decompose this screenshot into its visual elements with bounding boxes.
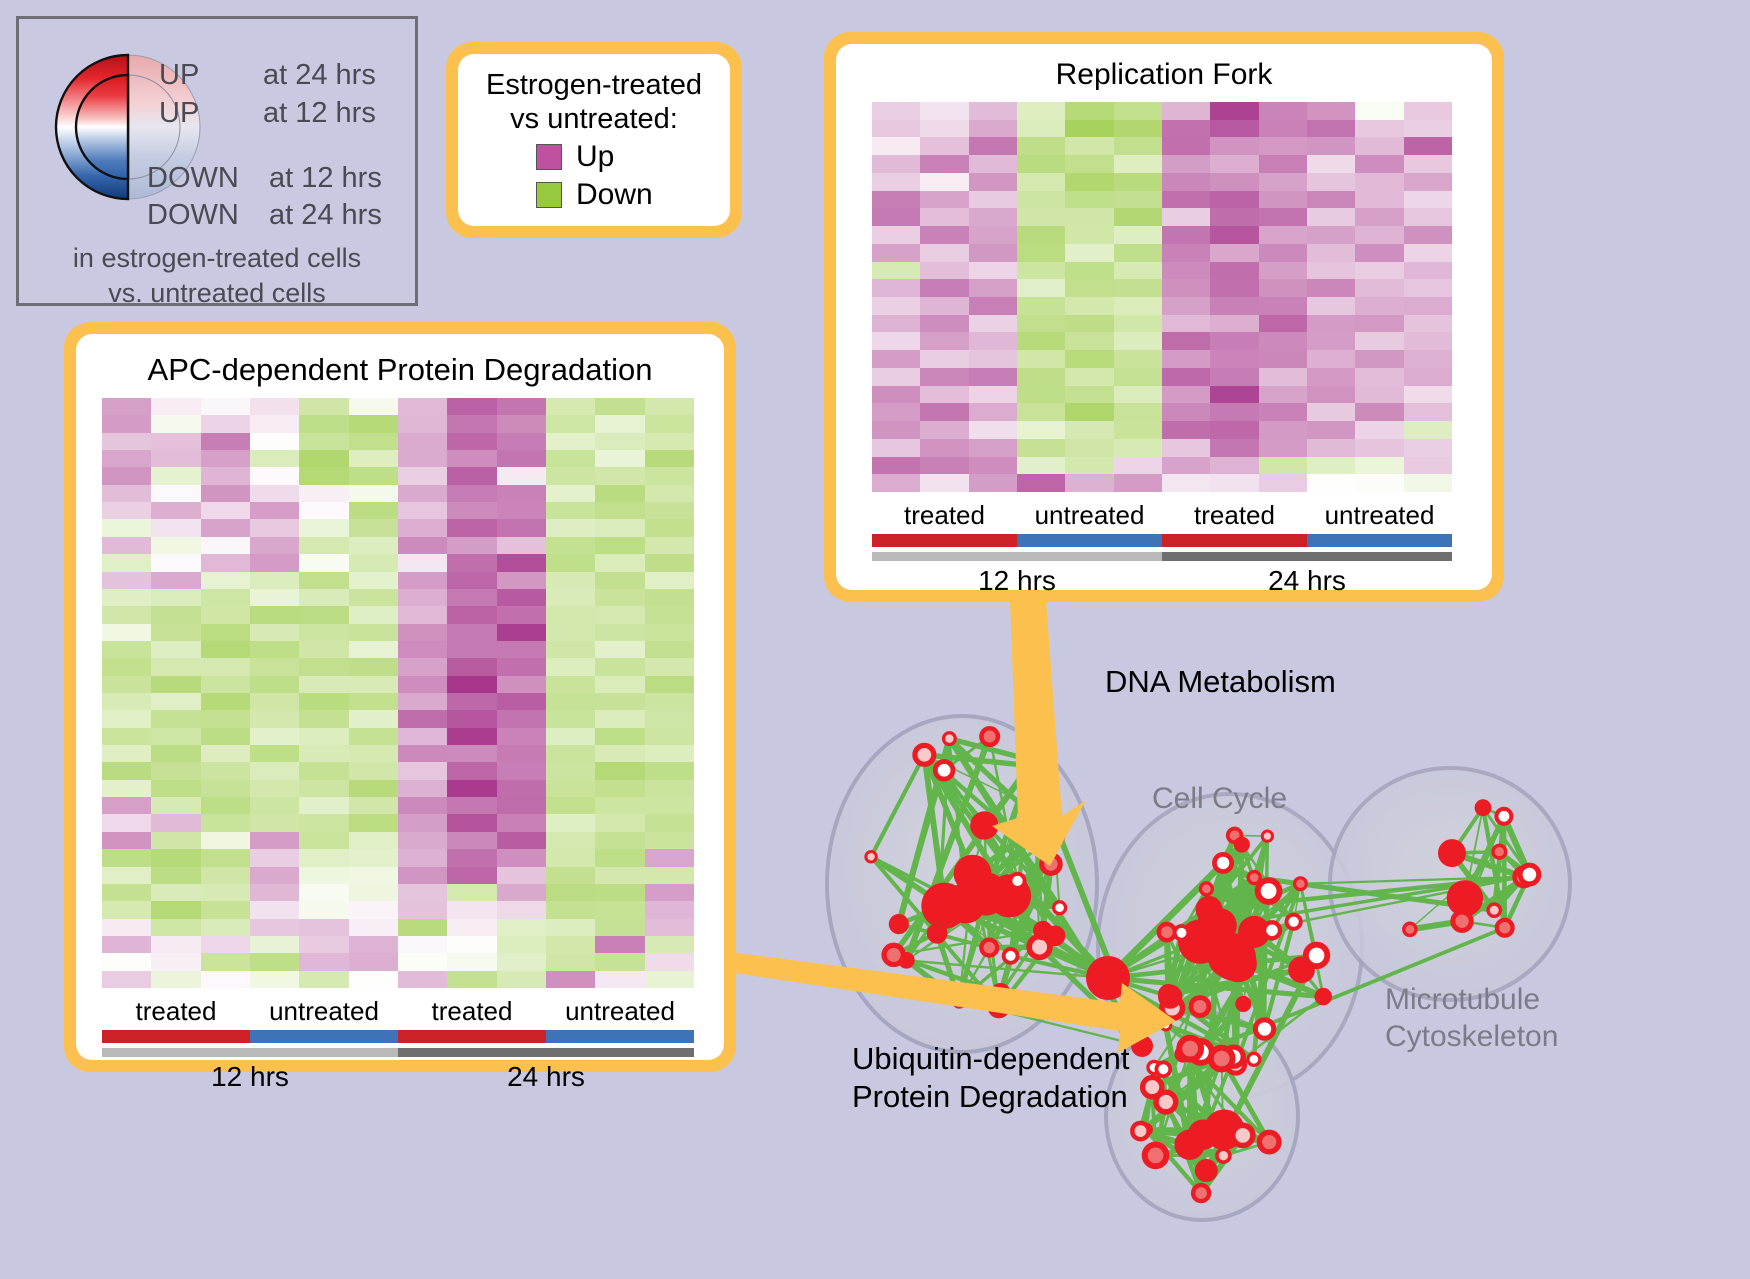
heatmap-cell xyxy=(349,572,398,589)
heatmap-cell xyxy=(151,415,200,432)
heatmap-cell xyxy=(645,953,694,970)
heatmap-cell xyxy=(299,676,348,693)
heatmap-cell xyxy=(250,693,299,710)
heatmap-cell xyxy=(595,728,644,745)
network-node xyxy=(1497,920,1513,936)
heatmap-cell xyxy=(398,884,447,901)
heatmap-cell xyxy=(1355,173,1403,191)
heatmap-cell xyxy=(1210,120,1258,138)
heatmap-cell xyxy=(102,832,151,849)
heatmap-cell xyxy=(1307,315,1355,333)
heatmap-cell xyxy=(595,537,644,554)
heatmap-cell xyxy=(1017,120,1065,138)
heatmap-cell xyxy=(151,901,200,918)
heatmap-cell xyxy=(1162,297,1210,315)
heatmap-cell xyxy=(151,919,200,936)
heatmap-cell xyxy=(595,658,644,675)
heatmap-cell xyxy=(447,832,496,849)
heatmap-cell xyxy=(497,415,546,432)
network-node xyxy=(1161,1020,1171,1030)
group-color-bar xyxy=(102,1030,250,1043)
apc-degradation-axis: treateduntreatedtreateduntreated 12 hrs2… xyxy=(102,996,694,1093)
heatmap-cell xyxy=(299,433,348,450)
heatmap-cell xyxy=(497,884,546,901)
network-node xyxy=(1306,945,1327,966)
heatmap-cell xyxy=(1259,226,1307,244)
network-node xyxy=(1159,924,1175,940)
heatmap-cell xyxy=(398,693,447,710)
heatmap-cell xyxy=(1162,350,1210,368)
heatmap-cell xyxy=(1404,102,1452,120)
heatmap-cell xyxy=(645,832,694,849)
heatmap-cell xyxy=(1162,457,1210,475)
network-node xyxy=(1488,904,1500,916)
heatmap-cell xyxy=(595,676,644,693)
network-node xyxy=(1211,1048,1233,1070)
heatmap-cell xyxy=(447,485,496,502)
heatmap-cell xyxy=(398,901,447,918)
network-node xyxy=(1042,855,1060,873)
heatmap-cell xyxy=(250,485,299,502)
heatmap-cell xyxy=(299,728,348,745)
heatmap-cell xyxy=(1307,244,1355,262)
heatmap-cell xyxy=(546,676,595,693)
heatmap-cell xyxy=(645,745,694,762)
heatmap-cell xyxy=(1355,297,1403,315)
heatmap-cell xyxy=(969,439,1017,457)
heatmap-cell xyxy=(546,641,595,658)
heatmap-cell xyxy=(398,572,447,589)
key-footer-line2: vs. untreated cells xyxy=(19,276,415,311)
heatmap-cell xyxy=(447,641,496,658)
heatmap-cell xyxy=(349,658,398,675)
group-color-bar xyxy=(1017,534,1162,547)
heatmap-cell xyxy=(250,710,299,727)
heatmap-cell xyxy=(645,572,694,589)
heatmap-cell xyxy=(1162,386,1210,404)
heatmap-cell xyxy=(151,728,200,745)
heatmap-cell xyxy=(497,537,546,554)
heatmap-cell xyxy=(102,710,151,727)
heatmap-cell xyxy=(398,537,447,554)
heatmap-cell xyxy=(349,589,398,606)
heatmap-cell xyxy=(1114,191,1162,209)
heatmap-cell xyxy=(398,398,447,415)
heatmap-cell xyxy=(151,572,200,589)
heatmap-cell xyxy=(1404,350,1452,368)
heatmap-cell xyxy=(349,467,398,484)
heatmap-cell xyxy=(201,641,250,658)
heatmap-cell xyxy=(102,849,151,866)
heatmap-cell xyxy=(872,191,920,209)
network-node xyxy=(1214,854,1231,871)
heatmap-cell xyxy=(299,971,348,988)
heatmap-cell xyxy=(151,936,200,953)
time-color-bar xyxy=(872,552,1162,561)
heatmap-cell xyxy=(250,728,299,745)
heatmap-cell xyxy=(201,658,250,675)
heatmap-cell xyxy=(349,919,398,936)
heatmap-cell xyxy=(1114,120,1162,138)
replication-fork-time-bar xyxy=(872,552,1452,561)
heatmap-cell xyxy=(1065,137,1113,155)
heatmap-cell xyxy=(349,953,398,970)
heatmap-cell xyxy=(299,693,348,710)
heatmap-cell xyxy=(1404,297,1452,315)
heatmap-cell xyxy=(1307,155,1355,173)
heatmap-cell xyxy=(349,936,398,953)
heatmap-cell xyxy=(1162,137,1210,155)
network-node xyxy=(1453,912,1471,930)
heatmap-cell xyxy=(349,519,398,536)
heatmap-cell xyxy=(299,606,348,623)
heatmap-cell xyxy=(595,814,644,831)
heatmap-cell xyxy=(969,386,1017,404)
heatmap-cell xyxy=(151,953,200,970)
heatmap-cell xyxy=(1355,262,1403,280)
heatmap-cell xyxy=(398,762,447,779)
heatmap-cell xyxy=(1307,279,1355,297)
heatmap-cell xyxy=(398,589,447,606)
heatmap-cell xyxy=(920,386,968,404)
heatmap-cell xyxy=(1210,208,1258,226)
heatmap-cell xyxy=(1259,368,1307,386)
heatmap-cell xyxy=(1210,439,1258,457)
heatmap-cell xyxy=(398,676,447,693)
heatmap-cell xyxy=(102,624,151,641)
apc-degradation-title: APC-dependent Protein Degradation xyxy=(76,352,724,388)
heatmap-cell xyxy=(595,398,644,415)
heatmap-cell xyxy=(1210,191,1258,209)
heatmap-cell xyxy=(398,433,447,450)
key-footer-line1: in estrogen-treated cells xyxy=(19,241,415,276)
heatmap-cell xyxy=(645,433,694,450)
heatmap-cell xyxy=(1404,403,1452,421)
heatmap-cell xyxy=(872,279,920,297)
heatmap-cell xyxy=(102,676,151,693)
heatmap-cell xyxy=(1307,368,1355,386)
heatmap-cell xyxy=(201,502,250,519)
heatmap-cell xyxy=(872,137,920,155)
heatmap-cell xyxy=(1114,403,1162,421)
network-node xyxy=(1259,1132,1279,1152)
heatmap-cell xyxy=(349,450,398,467)
heatmap-cell xyxy=(447,589,496,606)
network-node xyxy=(1045,826,1063,844)
cluster-label-microtubule-cytoskeleton: Microtubule Cytoskeleton xyxy=(1385,981,1558,1055)
heatmap-cell xyxy=(1404,173,1452,191)
heatmap-cell xyxy=(497,780,546,797)
heatmap-cell xyxy=(1210,350,1258,368)
heatmap-cell xyxy=(299,624,348,641)
heatmap-cell xyxy=(645,467,694,484)
heatmap-cell xyxy=(1065,102,1113,120)
heatmap-cell xyxy=(1017,279,1065,297)
key-direction-2: DOWN xyxy=(147,162,239,195)
heatmap-cell xyxy=(595,554,644,571)
heatmap-cell xyxy=(497,467,546,484)
expression-key-box: UP at 24 hrs UP at 12 hrs DOWN at 12 hrs… xyxy=(16,16,418,306)
heatmap-cell xyxy=(969,208,1017,226)
heatmap-cell xyxy=(349,398,398,415)
heatmap-cell xyxy=(497,971,546,988)
heatmap-cell xyxy=(102,572,151,589)
heatmap-cell xyxy=(250,398,299,415)
heatmap-cell xyxy=(1114,226,1162,244)
heatmap-cell xyxy=(920,279,968,297)
network-node xyxy=(866,852,876,862)
heatmap-cell xyxy=(1355,155,1403,173)
key-time-3: at 24 hrs xyxy=(269,199,382,232)
heatmap-cell xyxy=(102,901,151,918)
heatmap-cell xyxy=(595,606,644,623)
heatmap-cell xyxy=(546,901,595,918)
group-label: untreated xyxy=(1017,500,1162,531)
cluster-label-ub-line2: Protein Degradation xyxy=(852,1078,1130,1116)
heatmap-cell xyxy=(969,457,1017,475)
heatmap-cell xyxy=(595,485,644,502)
heatmap-cell xyxy=(920,332,968,350)
heatmap-cell xyxy=(872,262,920,280)
heatmap-cell xyxy=(1065,226,1113,244)
time-color-bar xyxy=(398,1048,694,1057)
legend-swatch-down-icon xyxy=(536,182,562,208)
heatmap-cell xyxy=(201,519,250,536)
heatmap-cell xyxy=(1114,350,1162,368)
heatmap-cell xyxy=(546,936,595,953)
heatmap-cell xyxy=(1114,386,1162,404)
heatmap-cell xyxy=(497,450,546,467)
time-label: 24 hrs xyxy=(398,1061,694,1093)
heatmap-cell xyxy=(299,953,348,970)
heatmap-cell xyxy=(1065,244,1113,262)
heatmap-cell xyxy=(645,415,694,432)
heatmap-cell xyxy=(546,519,595,536)
network-node xyxy=(1193,1185,1209,1201)
heatmap-cell xyxy=(201,572,250,589)
heatmap-cell xyxy=(546,884,595,901)
heatmap-cell xyxy=(1404,208,1452,226)
heatmap-cell xyxy=(546,849,595,866)
heatmap-cell xyxy=(1210,226,1258,244)
heatmap-cell xyxy=(398,919,447,936)
heatmap-cell xyxy=(546,832,595,849)
heatmap-cell xyxy=(645,762,694,779)
heatmap-cell xyxy=(447,693,496,710)
heatmap-cell xyxy=(1114,137,1162,155)
time-label: 12 hrs xyxy=(102,1061,398,1093)
network-node xyxy=(953,995,965,1007)
network-node xyxy=(1264,922,1280,938)
cluster-label-mt-line2: Cytoskeleton xyxy=(1385,1018,1558,1055)
heatmap-cell xyxy=(1065,191,1113,209)
network-node xyxy=(929,925,945,941)
heatmap-cell xyxy=(250,953,299,970)
group-color-bar xyxy=(250,1030,398,1043)
heatmap-cell xyxy=(201,884,250,901)
heatmap-cell xyxy=(1307,262,1355,280)
heatmap-cell xyxy=(497,936,546,953)
network-node xyxy=(1295,878,1307,890)
heatmap-cell xyxy=(1017,226,1065,244)
heatmap-cell xyxy=(497,519,546,536)
network-node xyxy=(1132,1123,1148,1139)
heatmap-cell xyxy=(872,474,920,492)
heatmap-cell xyxy=(1355,421,1403,439)
heatmap-cell xyxy=(201,467,250,484)
heatmap-cell xyxy=(1355,191,1403,209)
heatmap-cell xyxy=(497,693,546,710)
heatmap-cell xyxy=(102,606,151,623)
heatmap-cell xyxy=(151,797,200,814)
heatmap-cell xyxy=(151,867,200,884)
heatmap-cell xyxy=(1162,439,1210,457)
network-node xyxy=(1197,1162,1215,1180)
heatmap-cell xyxy=(1210,474,1258,492)
heatmap-cell xyxy=(1259,155,1307,173)
group-label: untreated xyxy=(546,996,694,1027)
heatmap-cell xyxy=(645,814,694,831)
heatmap-cell xyxy=(299,519,348,536)
network-node xyxy=(1258,880,1280,902)
heatmap-cell xyxy=(201,797,250,814)
heatmap-cell xyxy=(102,641,151,658)
heatmap-cell xyxy=(969,226,1017,244)
network-node xyxy=(1520,865,1539,884)
heatmap-cell xyxy=(1162,332,1210,350)
key-time-2: at 12 hrs xyxy=(269,162,382,195)
heatmap-cell xyxy=(1404,457,1452,475)
heatmap-cell xyxy=(546,467,595,484)
heatmap-cell xyxy=(1114,208,1162,226)
network-node xyxy=(1145,1145,1167,1167)
heatmap-cell xyxy=(250,658,299,675)
heatmap-cell xyxy=(1017,439,1065,457)
replication-fork-heatmap xyxy=(872,102,1452,492)
heatmap-cell xyxy=(546,710,595,727)
group-label: treated xyxy=(1162,500,1307,531)
heatmap-cell xyxy=(1404,315,1452,333)
network-node xyxy=(1025,753,1040,768)
heatmap-cell xyxy=(1355,102,1403,120)
heatmap-cell xyxy=(969,368,1017,386)
key-time-0: at 24 hrs xyxy=(263,59,376,92)
heatmap-cell xyxy=(1162,120,1210,138)
heatmap-cell xyxy=(1404,421,1452,439)
heatmap-cell xyxy=(546,502,595,519)
heatmap-cell xyxy=(447,814,496,831)
heatmap-cell xyxy=(349,433,398,450)
heatmap-cell xyxy=(595,762,644,779)
heatmap-cell xyxy=(645,658,694,675)
heatmap-cell xyxy=(595,624,644,641)
heatmap-cell xyxy=(645,849,694,866)
color-legend-panel: Estrogen-treated vs untreated: Up Down xyxy=(446,42,742,238)
heatmap-cell xyxy=(546,433,595,450)
heatmap-cell xyxy=(349,797,398,814)
heatmap-cell xyxy=(920,350,968,368)
heatmap-cell xyxy=(1307,297,1355,315)
heatmap-cell xyxy=(1162,403,1210,421)
heatmap-cell xyxy=(1114,173,1162,191)
time-color-bar xyxy=(1162,552,1452,561)
heatmap-cell xyxy=(920,439,968,457)
heatmap-cell xyxy=(299,658,348,675)
heatmap-cell xyxy=(1307,474,1355,492)
heatmap-cell xyxy=(398,606,447,623)
heatmap-cell xyxy=(872,208,920,226)
heatmap-cell xyxy=(1065,474,1113,492)
heatmap-cell xyxy=(969,244,1017,262)
network-node xyxy=(1237,998,1250,1011)
heatmap-cell xyxy=(872,173,920,191)
network-node xyxy=(1211,935,1256,980)
cluster-label-dna-metabolism: DNA Metabolism xyxy=(1105,664,1336,700)
heatmap-cell xyxy=(349,780,398,797)
heatmap-cell xyxy=(1355,120,1403,138)
heatmap-cell xyxy=(349,606,398,623)
heatmap-cell xyxy=(349,554,398,571)
heatmap-cell xyxy=(299,572,348,589)
heatmap-cell xyxy=(1307,439,1355,457)
network-node xyxy=(1404,923,1416,935)
replication-fork-treatment-bar xyxy=(872,534,1452,547)
heatmap-cell xyxy=(969,474,1017,492)
heatmap-cell xyxy=(1404,262,1452,280)
heatmap-cell xyxy=(250,589,299,606)
network-node xyxy=(954,855,992,893)
heatmap-cell xyxy=(250,867,299,884)
heatmap-cell xyxy=(645,780,694,797)
replication-fork-panel: Replication Fork treateduntreatedtreated… xyxy=(824,32,1504,602)
key-direction-3: DOWN xyxy=(147,199,239,232)
heatmap-cell xyxy=(595,832,644,849)
legend-title-line1: Estrogen-treated xyxy=(458,68,730,102)
heatmap-cell xyxy=(398,502,447,519)
network-node xyxy=(1179,1038,1201,1060)
network-node xyxy=(981,728,998,745)
heatmap-cell xyxy=(497,433,546,450)
heatmap-cell xyxy=(645,537,694,554)
heatmap-cell xyxy=(595,901,644,918)
heatmap-cell xyxy=(546,658,595,675)
apc-degradation-heatmap xyxy=(102,398,694,988)
heatmap-cell xyxy=(920,403,968,421)
heatmap-cell xyxy=(201,554,250,571)
heatmap-cell xyxy=(447,554,496,571)
heatmap-cell xyxy=(349,867,398,884)
heatmap-cell xyxy=(546,971,595,988)
heatmap-cell xyxy=(645,797,694,814)
heatmap-cell xyxy=(1259,137,1307,155)
heatmap-cell xyxy=(102,728,151,745)
heatmap-cell xyxy=(398,658,447,675)
heatmap-cell xyxy=(151,710,200,727)
heatmap-cell xyxy=(595,467,644,484)
cluster-label-ubiquitin-degradation: Ubiquitin-dependent Protein Degradation xyxy=(852,1040,1130,1117)
heatmap-cell xyxy=(969,173,1017,191)
heatmap-cell xyxy=(497,919,546,936)
heatmap-cell xyxy=(398,485,447,502)
heatmap-cell xyxy=(1355,315,1403,333)
heatmap-cell xyxy=(969,421,1017,439)
heatmap-cell xyxy=(349,884,398,901)
heatmap-cell xyxy=(595,415,644,432)
heatmap-cell xyxy=(645,606,694,623)
heatmap-cell xyxy=(497,762,546,779)
heatmap-cell xyxy=(250,971,299,988)
heatmap-cell xyxy=(151,537,200,554)
